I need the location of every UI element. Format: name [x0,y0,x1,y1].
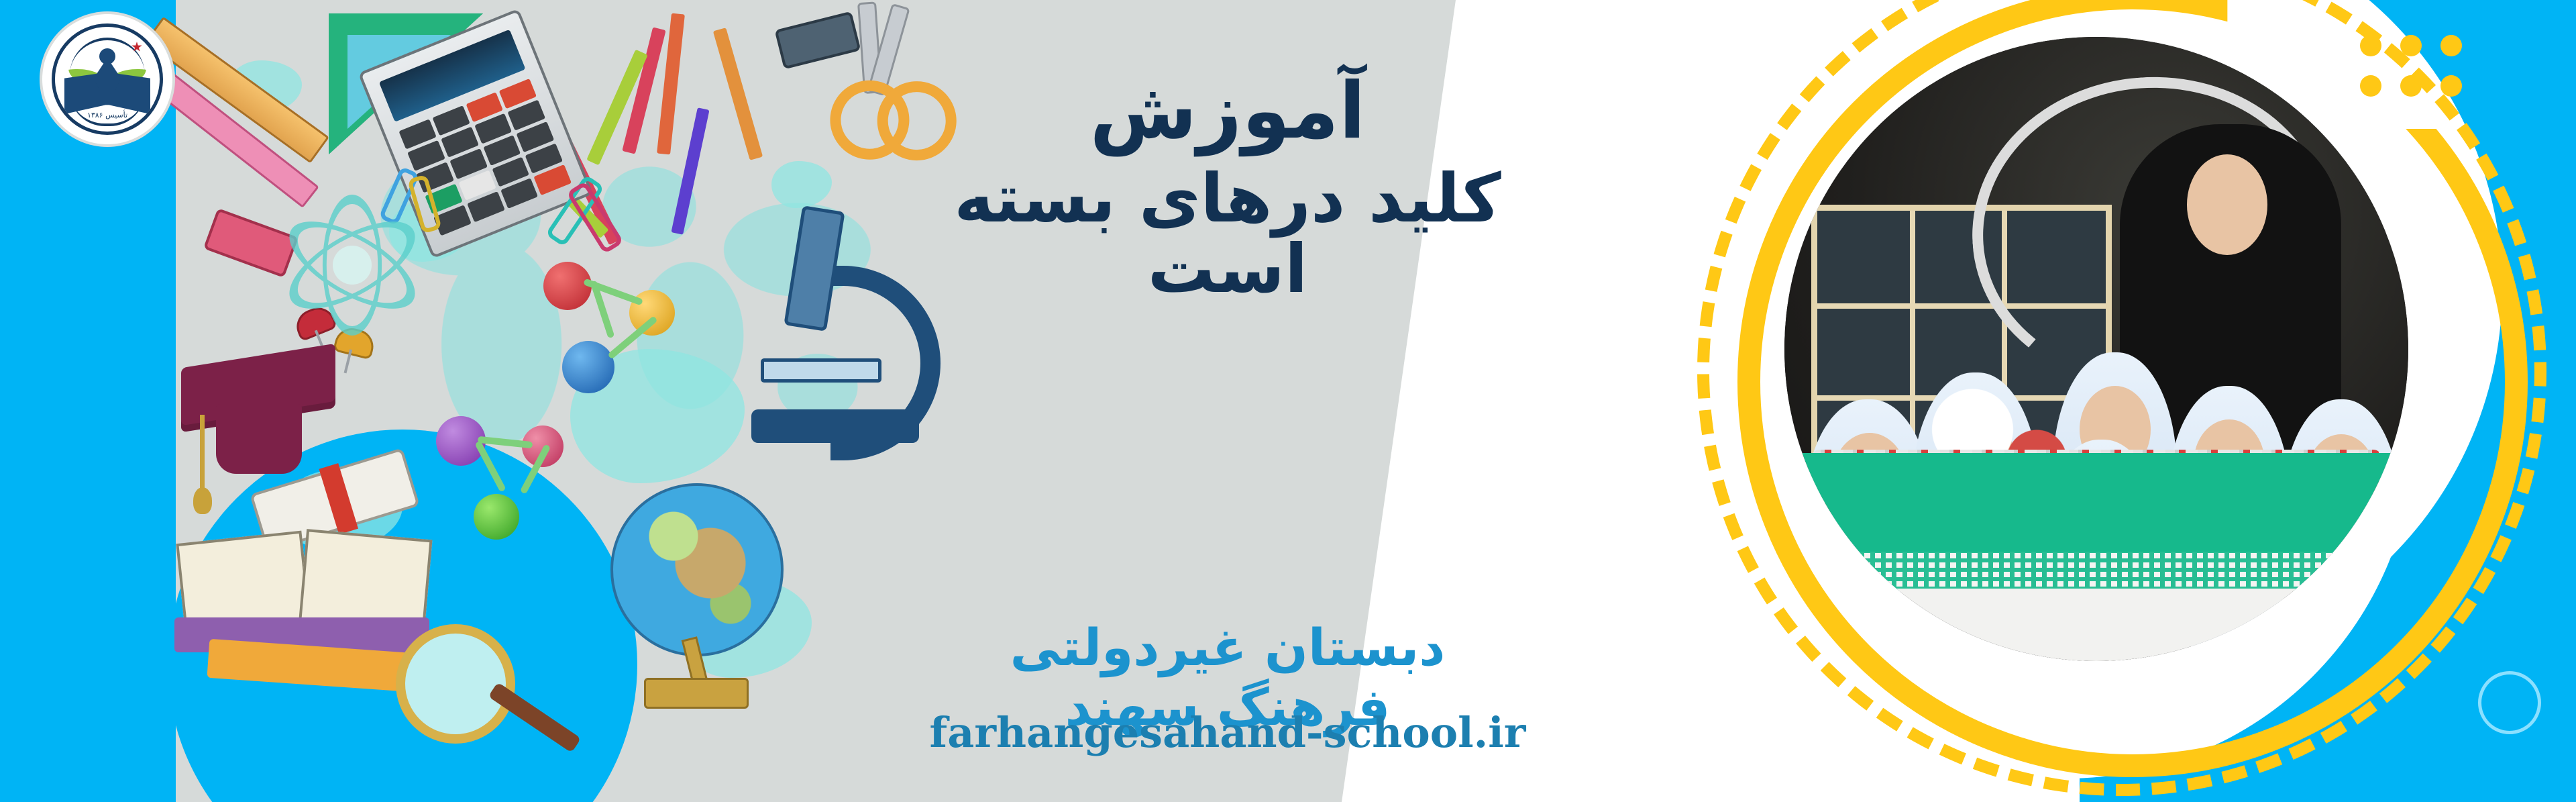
school-supplies-illustration [168,0,919,802]
molecule [436,416,570,550]
outline-circle-decor [2478,671,2541,734]
magnifying-glass [396,624,515,744]
globe-stand [644,678,749,709]
graduation-cap [181,356,335,420]
yellow-dot-grid [2341,35,2462,115]
microscope-base [751,409,919,443]
headline: آموزش کلید درهای بسته است [926,70,1529,304]
globe [610,483,784,656]
flag-kufic-script [1784,552,2408,591]
pencil-sharpener [774,11,861,70]
school-logo[interactable]: تأسیس ۱۳۸۶ [47,19,168,140]
molecule [543,262,684,403]
grid-dot [2400,35,2422,56]
grid-dot [2400,75,2422,97]
website-url[interactable]: farhangesahand-school.ir [926,708,1529,757]
grid-dot [2360,35,2381,56]
headline-line-1: آموزش [926,70,1529,152]
microscope [751,208,939,463]
teacher-face [2187,154,2267,255]
cap-tassel [200,415,205,489]
grid-dot [2440,75,2462,97]
atom-symbol [282,195,423,336]
logo-figure-head [99,48,115,64]
cap-knob [193,487,212,514]
group-photo [1784,37,2408,661]
logo-established-text: تأسیس ۱۳۸۶ [55,111,160,119]
logo-inner-disc: تأسیس ۱۳۸۶ [52,23,163,135]
headline-line-2: کلید درهای بسته است [926,163,1529,304]
diploma-ribbon [319,463,358,534]
flag-green-band [1784,453,2408,554]
microscope-stage [761,358,881,383]
flag-lower-band [1784,589,2408,661]
grid-dot [2440,35,2462,56]
grid-dot [2360,75,2381,97]
cap-body [216,404,302,474]
school-banner: تأسیس ۱۳۸۶ آموزش کلید درهای بسته است دبس… [0,0,2576,802]
